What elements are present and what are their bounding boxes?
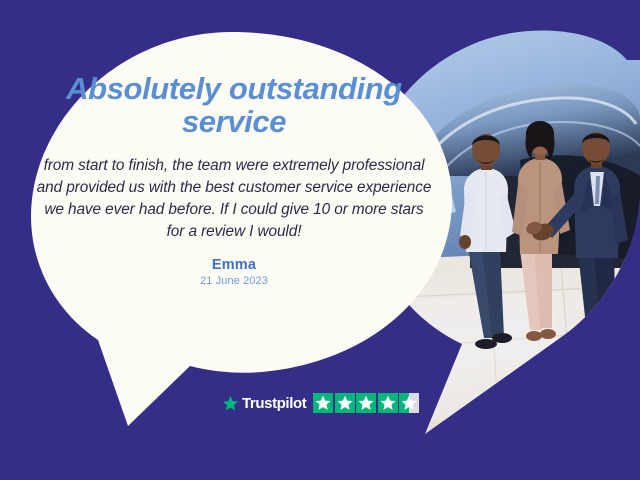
review-body-text: from start to finish, the team were extr… [28,155,440,243]
trustpilot-star-3 [356,393,376,413]
reviewer-name: Emma [28,257,440,273]
star-icon [401,395,418,412]
trustpilot-brand[interactable]: Trustpilot [222,395,306,412]
trustpilot-star-4 [378,393,398,413]
trustpilot-star-5 [399,393,419,413]
star-icon [315,395,332,412]
person-customer-male [459,134,516,349]
trustpilot-star-icon [222,395,239,412]
trustpilot-stars[interactable] [313,393,419,413]
review-content: Absolutely outstanding service from star… [28,72,440,287]
trustpilot-rating[interactable]: Trustpilot [222,393,419,413]
person-salesperson [544,132,628,355]
person-customer-female [512,121,570,341]
trustpilot-star-2 [335,393,355,413]
trustpilot-star-1 [313,393,333,413]
reviewer-block: Emma 21 June 2023 [28,257,440,287]
trustpilot-wordmark: Trustpilot [242,396,306,411]
review-headline: Absolutely outstanding service [28,72,440,139]
star-icon [336,395,353,412]
review-card: Absolutely outstanding service from star… [0,0,640,480]
reviewer-date: 21 June 2023 [28,275,440,287]
star-icon [358,395,375,412]
star-icon [379,395,396,412]
